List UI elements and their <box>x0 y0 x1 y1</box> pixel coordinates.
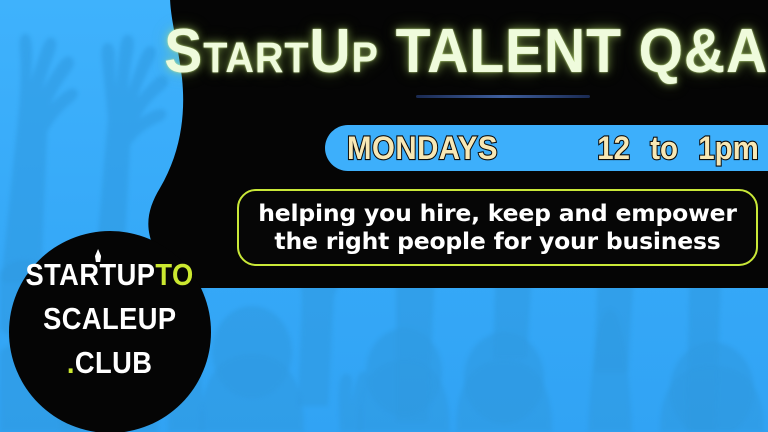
brand-logo-line-3: .CLUB <box>67 347 153 378</box>
schedule-time-start: 12 <box>598 130 631 167</box>
talent-underline <box>416 95 590 98</box>
schedule-time-separator: to <box>651 130 679 167</box>
tagline-line-2: the right people for your business <box>274 228 720 255</box>
brand-logo-inner: STARTUPTO SCALEUP .CLUB <box>9 231 211 432</box>
brand-logo-club: CLUB <box>75 345 153 380</box>
poster-title: StartUp TALENT Q&A <box>176 8 756 94</box>
brand-logo-startup: STARTUP <box>26 257 156 292</box>
brand-logo-to: TO <box>156 257 194 292</box>
schedule-time-group: 12 to 1pm <box>598 130 761 167</box>
tagline-box: helping you hire, keep and empower the r… <box>237 189 758 266</box>
brand-logo[interactable]: STARTUPTO SCALEUP .CLUB <box>9 231 211 432</box>
schedule-bar: MONDAYS 12 to 1pm <box>325 125 768 171</box>
poster-title-text: StartUp TALENT Q&A <box>164 16 768 87</box>
brand-logo-line-1: STARTUPTO <box>26 259 194 290</box>
schedule-day-label: MONDAYS <box>347 130 498 167</box>
schedule-time-end: 1pm <box>699 130 760 167</box>
poster-canvas: StartUp TALENT Q&A MONDAYS 12 to 1pm hel… <box>0 0 768 432</box>
brand-logo-line-2: SCALEUP <box>43 303 176 334</box>
tagline-line-1: helping you hire, keep and empower <box>258 200 736 227</box>
